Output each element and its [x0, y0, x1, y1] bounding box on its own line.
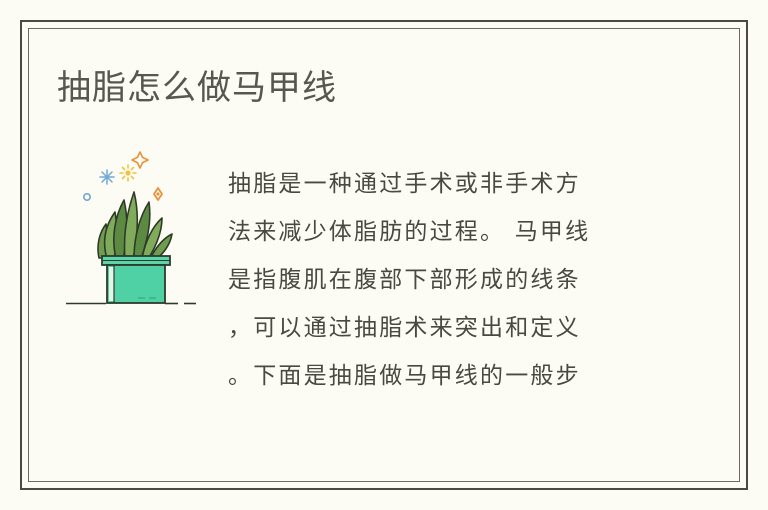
plant-pot — [102, 256, 170, 303]
page-root: 抽脂怎么做马甲线 — [0, 0, 768, 510]
blue-circle-small-icon — [84, 194, 90, 200]
potted-plant-illustration — [60, 140, 210, 310]
body-line: ，可以通过抽脂术来突出和定义 — [228, 304, 644, 352]
article-body: 抽脂是一种通过手术或非手术方 法来减少体脂肪的过程。 马甲线 是指腹肌在腹部下部… — [228, 160, 644, 400]
blue-snowflake-icon — [100, 170, 114, 184]
page-title: 抽脂怎么做马甲线 — [57, 66, 337, 110]
body-line: 抽脂是一种通过手术或非手术方 — [228, 160, 644, 208]
orange-diamond-ring-icon — [154, 188, 162, 200]
body-line: 。下面是抽脂做马甲线的一般步 — [228, 352, 644, 400]
orange-diamond-small-icon — [132, 152, 148, 168]
plant-leaves — [98, 192, 172, 259]
body-line: 法来减少体脂肪的过程。 马甲线 — [228, 208, 644, 256]
body-line: 是指腹肌在腹部下部形成的线条 — [228, 256, 644, 304]
yellow-sunburst-icon — [120, 165, 136, 181]
